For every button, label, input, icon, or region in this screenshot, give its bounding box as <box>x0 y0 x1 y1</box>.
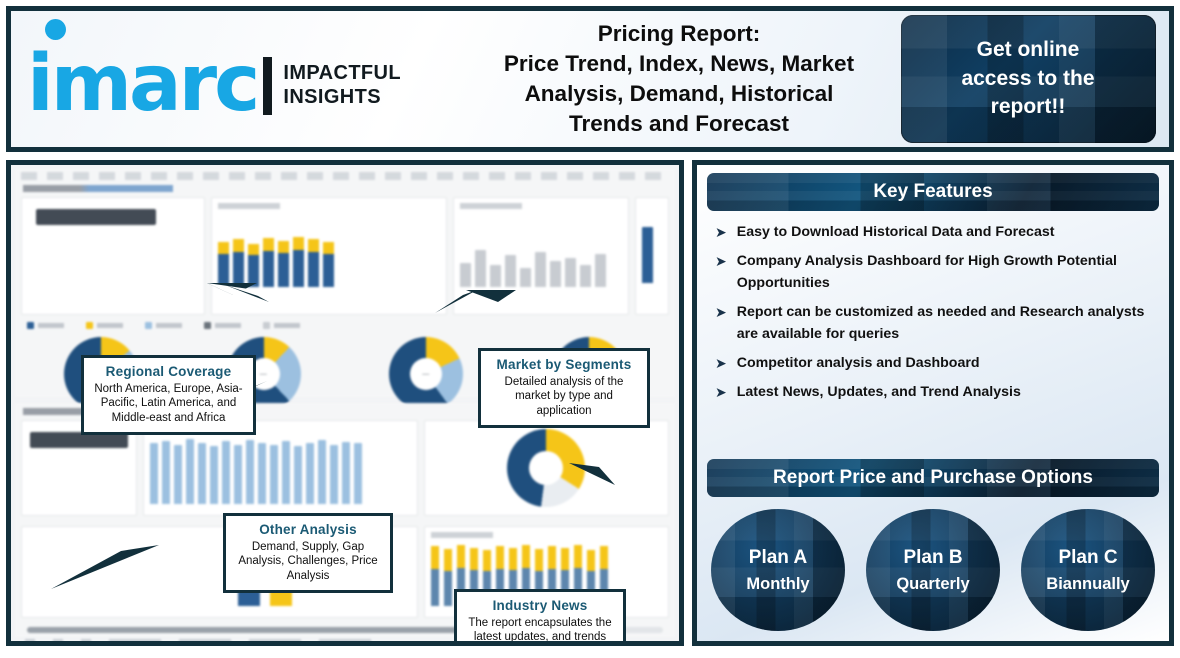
pricing-heading: Report Price and Purchase Options <box>773 467 1093 489</box>
plan-option-b[interactable]: Plan B Quarterly <box>866 509 1000 631</box>
logo-tagline-line2: INSIGHTS <box>283 85 401 109</box>
key-features-header: Key Features <box>707 173 1159 211</box>
plan-a-name: Plan A <box>749 547 807 569</box>
report-poster: imarc IMPACTFUL INSIGHTS Pricing Report:… <box>0 0 1180 658</box>
plan-c-period: Biannually <box>1046 575 1129 594</box>
key-features-heading: Key Features <box>873 181 992 203</box>
feature-text: Easy to Download Historical Data and For… <box>737 221 1055 243</box>
logo-dot-icon <box>45 19 66 40</box>
get-online-access-button[interactable]: Get online access to the report!! <box>901 15 1156 143</box>
dashboard-preview-panel: — — — — <box>6 160 684 646</box>
logo-wordmark-text: imarc <box>27 53 257 117</box>
logo-text: imarc <box>27 39 257 129</box>
feature-text: Company Analysis Dashboard for High Grow… <box>737 250 1155 294</box>
callout-title-regional: Regional Coverage <box>92 364 245 379</box>
callout-body-other: Demand, Supply, Gap Analysis, Challenges… <box>234 540 382 583</box>
page-title: Pricing Report: Price Trend, Index, News… <box>461 19 897 139</box>
plan-a-period: Monthly <box>746 575 809 594</box>
callout-title-other: Other Analysis <box>234 522 382 537</box>
cta-line2: access to the <box>961 65 1094 93</box>
callout-title-segments: Market by Segments <box>489 357 639 372</box>
page-title-line1: Pricing Report: <box>467 19 891 49</box>
page-title-line2: Price Trend, Index, News, Market <box>467 49 891 79</box>
callout-body-regional: North America, Europe, Asia-Pacific, Lat… <box>92 382 245 425</box>
callout-body-segments: Detailed analysis of the market by type … <box>489 375 639 418</box>
arrow-bullet-icon: ➤ <box>715 221 727 242</box>
callout-industry-news: Industry News The report encapsulates th… <box>454 589 626 646</box>
feature-item: ➤ Easy to Download Historical Data and F… <box>715 221 1155 243</box>
logo-divider <box>263 57 272 115</box>
page-title-line4: Trends and Forecast <box>467 109 891 139</box>
callout-regional-coverage: Regional Coverage North America, Europe,… <box>81 355 256 435</box>
body-grid: — — — — <box>6 160 1174 646</box>
plan-c-name: Plan C <box>1058 547 1117 569</box>
page-header: imarc IMPACTFUL INSIGHTS Pricing Report:… <box>6 6 1174 152</box>
callout-market-by-segments: Market by Segments Detailed analysis of … <box>478 348 650 428</box>
logo-tagline: IMPACTFUL INSIGHTS <box>283 61 401 110</box>
plan-b-period: Quarterly <box>896 575 969 594</box>
feature-item: ➤ Company Analysis Dashboard for High Gr… <box>715 250 1155 294</box>
feature-item: ➤ Latest News, Updates, and Trend Analys… <box>715 381 1155 403</box>
feature-item: ➤ Competitor analysis and Dashboard <box>715 352 1155 374</box>
page-title-line3: Analysis, Demand, Historical <box>467 79 891 109</box>
brand-logo[interactable]: imarc IMPACTFUL INSIGHTS <box>11 11 461 147</box>
feature-text: Report can be customized as needed and R… <box>737 301 1155 345</box>
callout-title-news: Industry News <box>465 598 615 613</box>
logo-tagline-line1: IMPACTFUL <box>283 61 401 85</box>
feature-text: Latest News, Updates, and Trend Analysis <box>737 381 1021 403</box>
cta-line3: report!! <box>961 93 1094 121</box>
plan-c-mosaic-texture <box>1021 509 1155 631</box>
callout-body-news: The report encapsulates the latest updat… <box>465 616 615 646</box>
plan-option-c[interactable]: Plan C Biannually <box>1021 509 1155 631</box>
key-features-list: ➤ Easy to Download Historical Data and F… <box>707 211 1159 459</box>
features-pricing-panel: Key Features ➤ Easy to Download Historic… <box>692 160 1174 646</box>
arrow-bullet-icon: ➤ <box>715 352 727 373</box>
arrow-bullet-icon: ➤ <box>715 381 727 402</box>
callout-other-analysis: Other Analysis Demand, Supply, Gap Analy… <box>223 513 393 593</box>
arrow-bullet-icon: ➤ <box>715 250 727 271</box>
pricing-header: Report Price and Purchase Options <box>707 459 1159 497</box>
plan-b-mosaic-texture <box>866 509 1000 631</box>
plan-a-mosaic-texture <box>711 509 845 631</box>
feature-text: Competitor analysis and Dashboard <box>737 352 980 374</box>
cta-container: Get online access to the report!! <box>897 15 1169 143</box>
plan-options: Plan A Monthly Plan B Quarterly Plan C B… <box>707 497 1159 631</box>
plan-option-a[interactable]: Plan A Monthly <box>711 509 845 631</box>
plan-b-name: Plan B <box>903 547 962 569</box>
feature-item: ➤ Report can be customized as needed and… <box>715 301 1155 345</box>
cta-label: Get online access to the report!! <box>961 36 1094 121</box>
arrow-bullet-icon: ➤ <box>715 301 727 322</box>
cta-line1: Get online <box>961 36 1094 64</box>
